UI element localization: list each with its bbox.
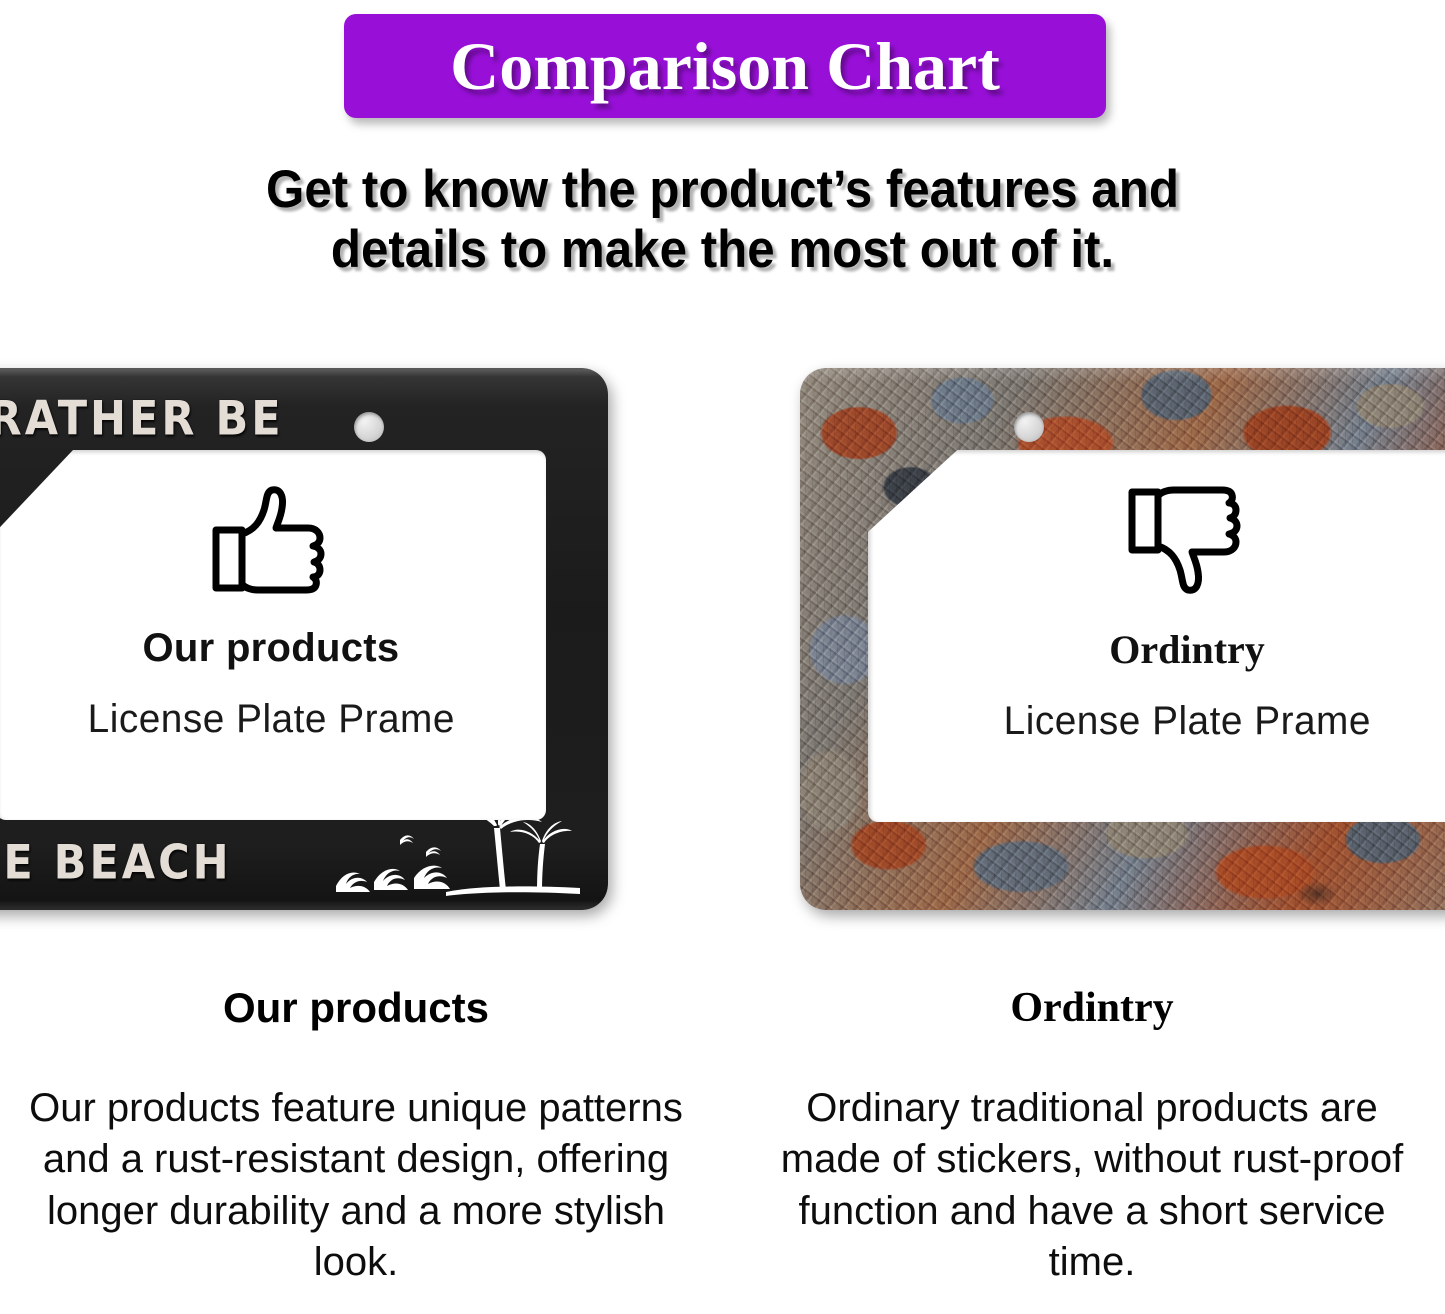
thumbs-up-icon <box>210 484 332 596</box>
description-column-left: Our products Our products feature unique… <box>6 985 706 1288</box>
thumbs-down-icon <box>1126 484 1248 596</box>
mounting-hole <box>1014 412 1044 442</box>
product-type-right: License Plate Prame <box>1003 699 1370 744</box>
frames-row: D RATHER BE THE BEACH <box>0 360 1445 920</box>
description-heading-left: Our products <box>6 985 706 1031</box>
descriptions-row: Our products Our products feature unique… <box>0 985 1445 1314</box>
subtitle-line-1: Get to know the product’s features and <box>51 160 1395 220</box>
plate-window-left: Our products License Plate Prame <box>0 450 546 820</box>
description-body-right: Ordinary traditional products are made o… <box>742 1083 1442 1288</box>
title-banner: Comparison Chart <box>344 14 1106 118</box>
page-subtitle: Get to know the product’s features and d… <box>51 160 1395 281</box>
comparison-chart-page: Comparison Chart Get to know the product… <box>0 0 1445 1314</box>
verdict-label-left: Our products <box>143 626 400 671</box>
description-heading-right: Ordintry <box>742 985 1442 1031</box>
frame-band-bottom-text: THE BEACH <box>0 836 232 891</box>
description-column-right: Ordintry Ordinary traditional products a… <box>742 985 1442 1288</box>
page-title: Comparison Chart <box>450 32 1000 100</box>
plate-window-right: Ordintry License Plate Prame <box>868 450 1445 822</box>
ordinary-product-plate-frame: Ordintry License Plate Prame <box>800 368 1445 910</box>
product-type-left: License Plate Prame <box>87 697 454 742</box>
our-product-plate-frame: D RATHER BE THE BEACH <box>0 368 608 910</box>
mounting-hole <box>354 412 384 442</box>
verdict-label-right: Ordintry <box>1109 626 1265 673</box>
description-body-left: Our products feature unique patterns and… <box>6 1083 706 1288</box>
frame-band-top-text: D RATHER BE <box>0 392 284 447</box>
subtitle-line-2: details to make the most out of it. <box>51 220 1395 280</box>
